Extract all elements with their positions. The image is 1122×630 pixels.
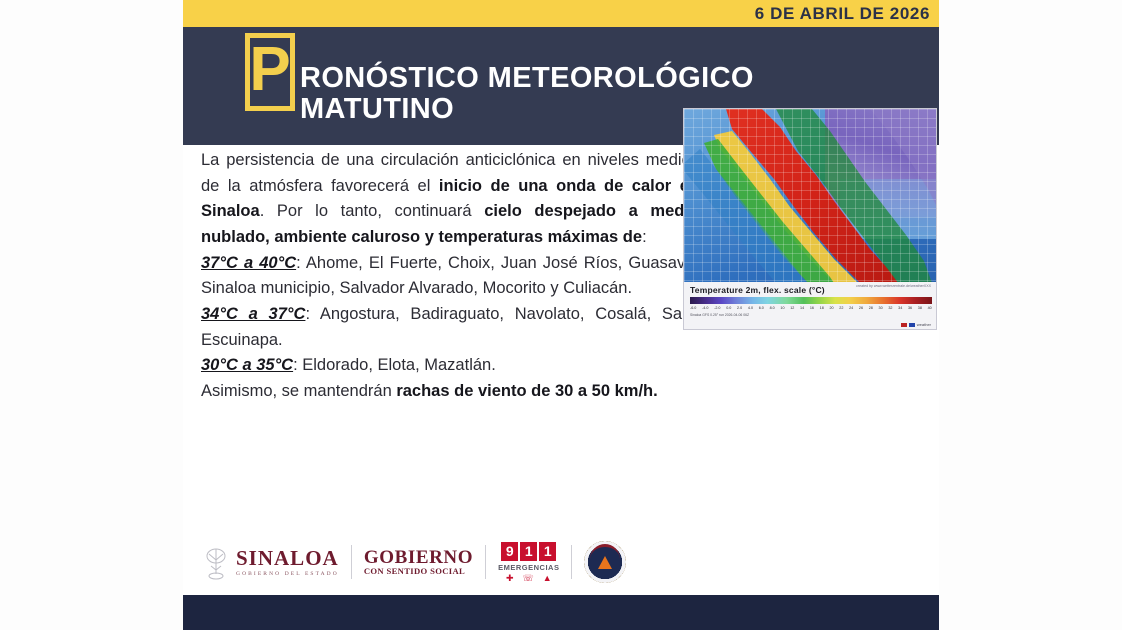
sinaloa-subtitle: GOBIERNO DEL ESTADO xyxy=(236,571,339,577)
legend-brand: weather xyxy=(901,322,931,327)
forecast-date: 6 DE ABRIL DE 2026 xyxy=(755,4,939,24)
forecast-body: La persistencia de una circulación antic… xyxy=(183,145,939,530)
emergency-digit: 9 xyxy=(501,542,518,561)
legend-tick: 26 xyxy=(859,306,863,310)
legend-tick: 20 xyxy=(829,306,833,310)
legend-brand-text: weather xyxy=(917,322,931,327)
footer-logos: SINALOA GOBIERNO DEL ESTADO GOBIERNO CON… xyxy=(201,538,626,586)
legend-tick: 38 xyxy=(918,306,922,310)
temp-range-value: 37°C a 40°C xyxy=(201,254,296,272)
poster-page: 6 DE ABRIL DE 2026 P RONÓSTICO METEOROLÓ… xyxy=(0,0,1122,630)
temp-range-value: 34°C a 37°C xyxy=(201,305,305,323)
legend-tick: 14 xyxy=(800,306,804,310)
wind-note: Asimismo, se mantendrán rachas de viento… xyxy=(201,379,937,405)
legend-tick: 40 xyxy=(928,306,932,310)
temp-range-sep: : xyxy=(293,356,302,374)
legend-colorbar xyxy=(690,297,932,304)
legend-tick: 4.0 xyxy=(748,306,753,310)
intro-c: . Por lo tanto, continuará xyxy=(260,202,485,220)
legend-title: Temperature 2m, flex. scale (°C) xyxy=(690,285,825,295)
date-bar: 6 DE ABRIL DE 2026 xyxy=(183,0,939,27)
legend-tick: 18 xyxy=(820,306,824,310)
temp-range-sep: : xyxy=(296,254,306,272)
temp-range-places: Eldorado, Elota, Mazatlán. xyxy=(302,356,496,374)
legend-tick: -6.0 xyxy=(690,306,696,310)
intro-paragraph: La persistencia de una circulación antic… xyxy=(201,148,699,251)
gobierno-wordmark: GOBIERNO CON SENTIDO SOCIAL xyxy=(364,548,473,576)
map-raster xyxy=(684,109,936,283)
medical-cross-icon: ✚ xyxy=(506,574,514,583)
legend-tick: 24 xyxy=(849,306,853,310)
temp-range-row: 37°C a 40°C: Ahome, El Fuerte, Choix, Ju… xyxy=(201,251,699,302)
temp-range-sep: : xyxy=(305,305,319,323)
footer-divider xyxy=(351,545,352,579)
legend-tick: 6.0 xyxy=(759,306,764,310)
legend-tick: 34 xyxy=(898,306,902,310)
gobierno-line-2: CON SENTIDO SOCIAL xyxy=(364,567,473,576)
footer-divider xyxy=(485,545,486,579)
state-seal-icon xyxy=(201,542,231,582)
map-grid-overlay xyxy=(684,109,936,283)
legend-tick: 16 xyxy=(810,306,814,310)
bottom-bar xyxy=(183,595,939,630)
title-line-1: RONÓSTICO METEOROLÓGICO xyxy=(300,62,754,94)
flag-icon xyxy=(901,323,907,327)
legend-tick: 22 xyxy=(839,306,843,310)
legend-tick: 32 xyxy=(888,306,892,310)
legend-ticks: -6.0-4.0-2.00.02.04.06.08.01012141618202… xyxy=(690,306,932,310)
temp-range-value: 30°C a 35°C xyxy=(201,356,293,374)
emergency-digit: 1 xyxy=(520,542,537,561)
sinaloa-wordmark: SINALOA GOBIERNO DEL ESTADO xyxy=(236,548,339,577)
emblem-arc xyxy=(590,544,620,559)
emergency-label: EMERGENCIAS xyxy=(498,563,559,572)
temp-range-row: 30°C a 35°C: Eldorado, Elota, Mazatlán. xyxy=(201,353,937,379)
legend-tick: 10 xyxy=(780,306,784,310)
legend-tick: 28 xyxy=(869,306,873,310)
wind-b: rachas de viento de 30 a 50 km/h. xyxy=(396,382,657,400)
emergency-digit: 1 xyxy=(539,542,556,561)
legend-footnote: Sinaloa GFS 0.25° run 2026-04-06 06Z xyxy=(690,313,749,317)
legend-tick: 2.0 xyxy=(737,306,742,310)
emergency-digits: 9 1 1 xyxy=(501,542,556,561)
civil-protection-emblem xyxy=(584,541,626,583)
sinaloa-name: SINALOA xyxy=(236,548,339,569)
emergency-911-logo: 9 1 1 EMERGENCIAS ✚ ☏ ▲ xyxy=(498,542,559,583)
logo-letter: P xyxy=(249,39,290,101)
legend-tick: 0.0 xyxy=(726,306,731,310)
map-legend: Temperature 2m, flex. scale (°C) created… xyxy=(684,282,936,329)
footer: SINALOA GOBIERNO DEL ESTADO GOBIERNO CON… xyxy=(183,530,939,595)
gobierno-line-1: GOBIERNO xyxy=(364,548,473,567)
protection-p-logo: P xyxy=(245,33,295,111)
temperature-map: Temperature 2m, flex. scale (°C) created… xyxy=(683,108,937,330)
legend-tick: 12 xyxy=(790,306,794,310)
flag-icon xyxy=(909,323,915,327)
legend-tick: 30 xyxy=(879,306,883,310)
intro-e: : xyxy=(642,228,647,246)
footer-divider xyxy=(571,545,572,579)
legend-tick: 8.0 xyxy=(770,306,775,310)
legend-tick: -4.0 xyxy=(702,306,708,310)
eagle-seal-svg xyxy=(203,544,229,580)
emergency-service-icons: ✚ ☏ ▲ xyxy=(506,574,552,583)
fire-icon: ▲ xyxy=(543,574,552,583)
poster-content: 6 DE ABRIL DE 2026 P RONÓSTICO METEOROLÓ… xyxy=(183,0,939,630)
legend-credit: created by www.wetterzentrale.de/weather… xyxy=(856,284,931,288)
wind-a: Asimismo, se mantendrán xyxy=(201,382,396,400)
police-icon: ☏ xyxy=(522,574,533,583)
legend-tick: -2.0 xyxy=(714,306,720,310)
legend-tick: 36 xyxy=(908,306,912,310)
